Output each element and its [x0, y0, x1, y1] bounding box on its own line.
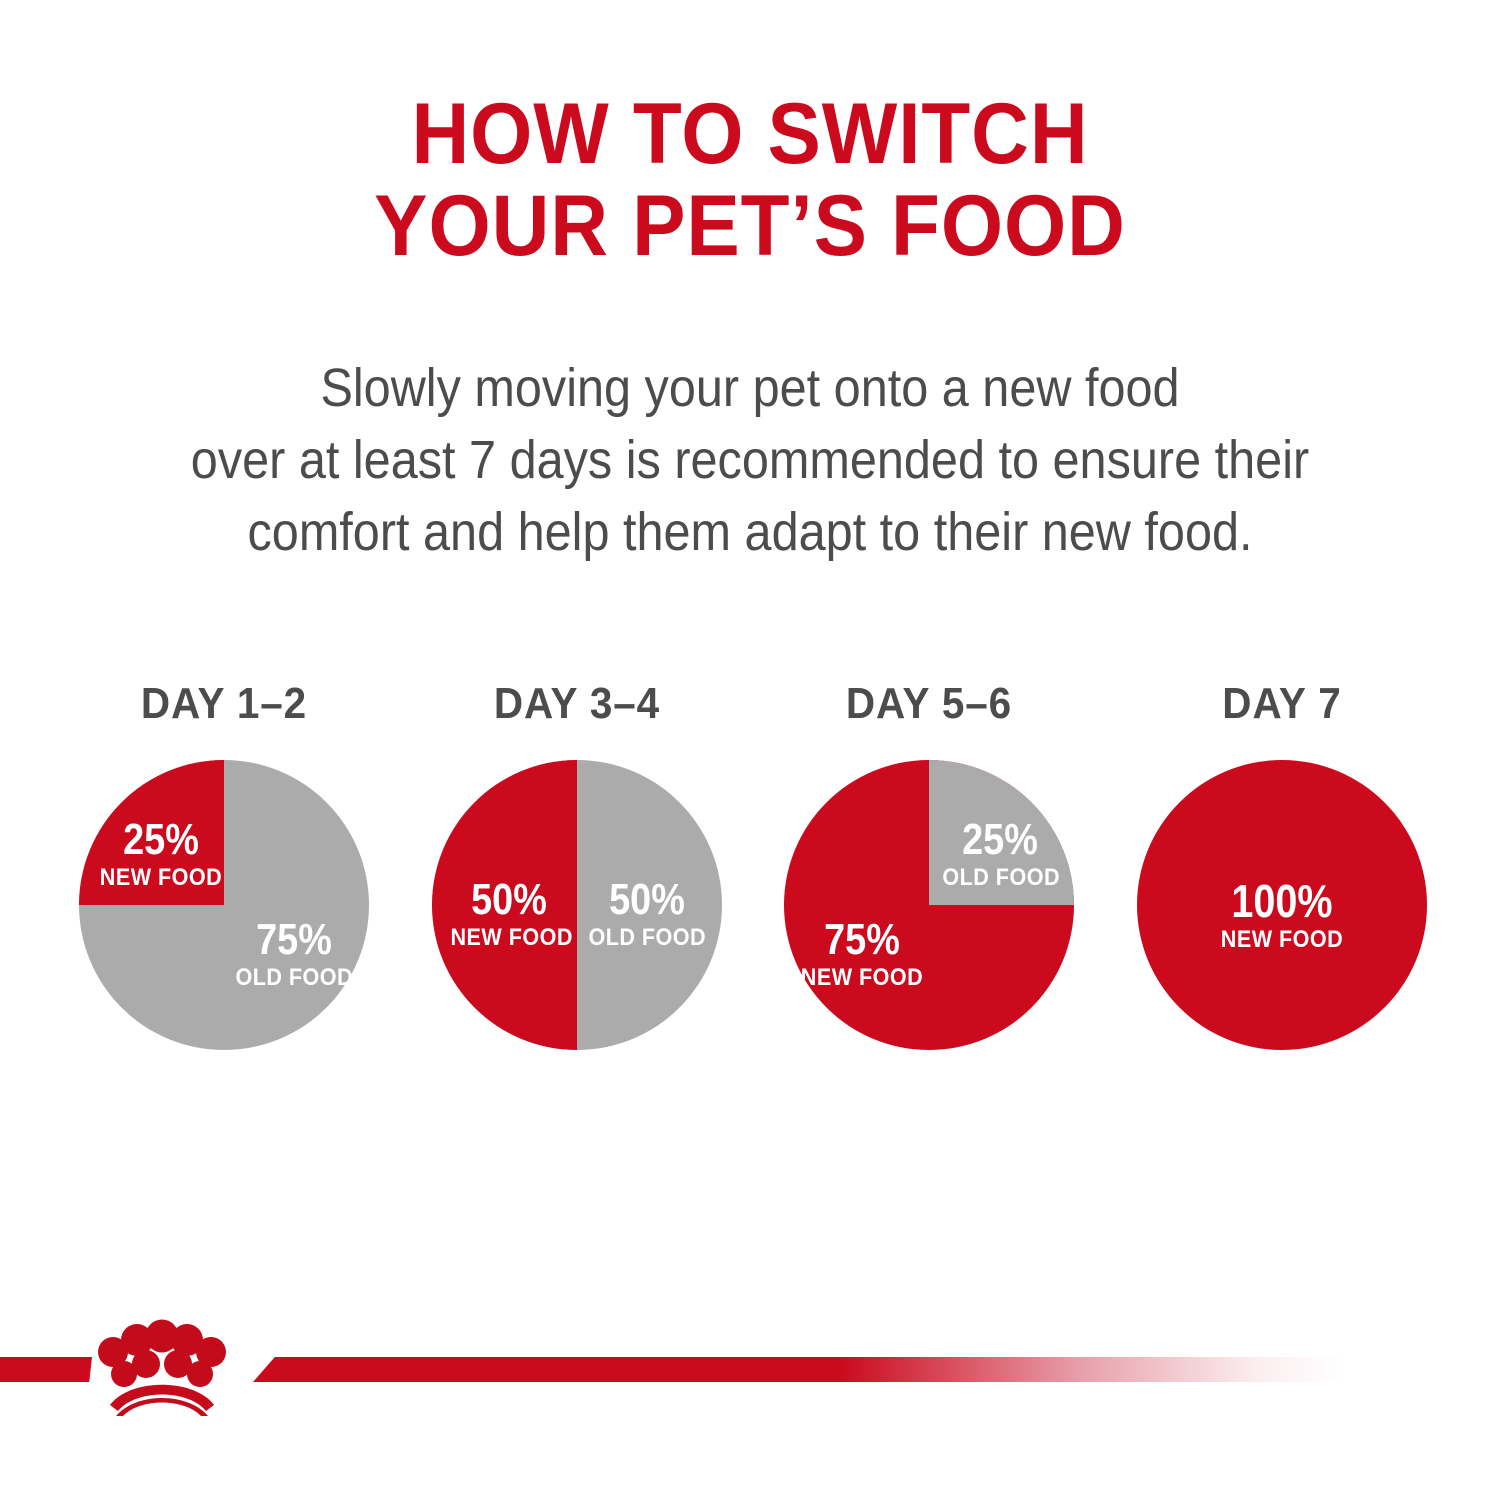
pie-card-day-1-2: DAY 1–2 25% NEW FOOD 75% OLD FOOD	[58, 678, 390, 1078]
intro-line-2: over at least 7 days is recommended to e…	[75, 424, 1425, 496]
pie-slice-new-food	[1137, 760, 1427, 1050]
pie-slice-old-food	[929, 760, 1074, 905]
pie-chart-day-1-2: 25% NEW FOOD 75% OLD FOOD	[79, 760, 369, 1050]
footer-rule-left	[0, 1357, 92, 1382]
page-title: HOW TO SWITCH YOUR PET’S FOOD	[0, 88, 1500, 272]
pie-card-day-5-6: DAY 5–6 25% OLD FOOD 75% NEW FOOD	[763, 678, 1095, 1078]
royal-canin-crown-icon	[96, 1312, 228, 1416]
day-label-3: DAY 5–6	[777, 678, 1082, 730]
page-title-line-2: YOUR PET’S FOOD	[53, 180, 1448, 272]
pie-chart-day-7: 100% NEW FOOD	[1137, 760, 1427, 1050]
pie-slice-new-food	[79, 760, 224, 905]
pie-chart-day-3-4: 50% NEW FOOD 50% OLD FOOD	[432, 760, 722, 1050]
day-label-4: DAY 7	[1129, 678, 1434, 730]
footer-brand-rule	[0, 1300, 1500, 1430]
footer-rule-right	[253, 1357, 1343, 1382]
pie-card-day-3-4: DAY 3–4 50% NEW FOOD 50% OLD FOOD	[411, 678, 743, 1078]
page-title-line-1: HOW TO SWITCH	[53, 88, 1448, 180]
pie-chart-day-5-6: 25% OLD FOOD 75% NEW FOOD	[784, 760, 1074, 1050]
intro-paragraph: Slowly moving your pet onto a new food o…	[0, 352, 1500, 568]
infographic-page: HOW TO SWITCH YOUR PET’S FOOD Slowly mov…	[0, 0, 1500, 1500]
day-label-2: DAY 3–4	[424, 678, 729, 730]
day-label-1: DAY 1–2	[71, 678, 376, 730]
pie-chart-row: DAY 1–2 25% NEW FOOD 75% OLD FOOD	[58, 678, 1448, 1078]
pie-slice-new-food	[432, 760, 577, 1050]
intro-line-3: comfort and help them adapt to their new…	[75, 496, 1425, 568]
intro-line-1: Slowly moving your pet onto a new food	[75, 352, 1425, 424]
pie-card-day-7: DAY 7 100% NEW FOOD	[1116, 678, 1448, 1078]
